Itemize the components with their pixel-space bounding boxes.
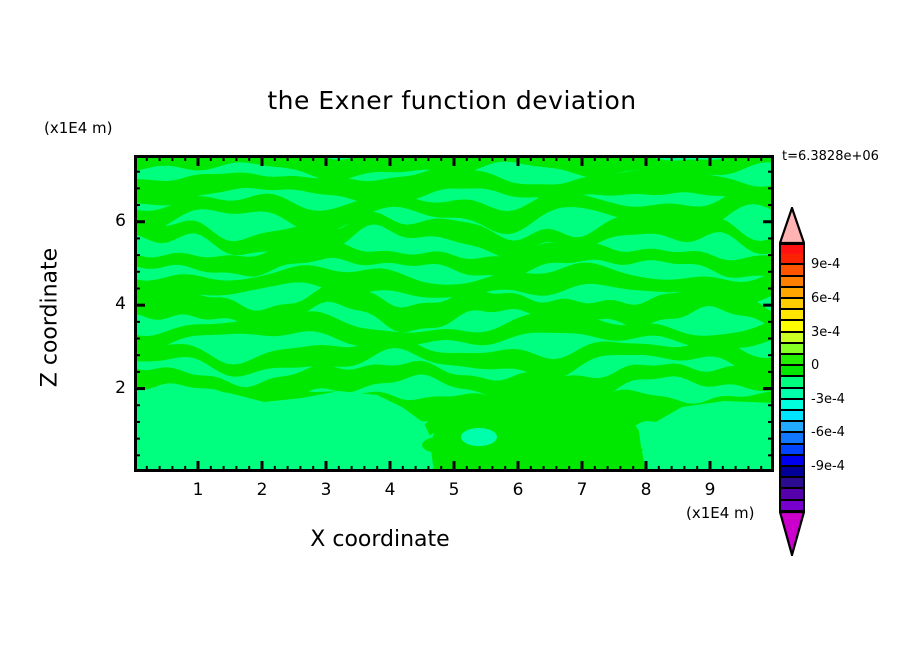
colorbar-band[interactable] — [779, 366, 805, 377]
x-tick-label: 2 — [242, 480, 282, 500]
colorbar-over-arrow — [779, 207, 805, 243]
time-annotation: t=6.3828e+06 — [782, 149, 879, 164]
page-title: the Exner function deviation — [0, 86, 904, 115]
colorbar-tick-label: -6e-4 — [811, 425, 845, 440]
colorbar-band[interactable] — [779, 400, 805, 411]
plot-area — [134, 155, 774, 472]
x-tick-label: 1 — [178, 480, 218, 500]
colorbar-band[interactable] — [779, 321, 805, 332]
y-axis-title: Z coordinate — [38, 208, 63, 428]
x-tick-label: 5 — [434, 480, 474, 500]
colorbar-band[interactable] — [779, 355, 805, 366]
colorbar-band[interactable] — [779, 478, 805, 489]
colorbar-band[interactable] — [779, 467, 805, 478]
colorbar-band[interactable] — [779, 333, 805, 344]
x-tick-label: 9 — [690, 480, 730, 500]
colorbar-band[interactable] — [779, 310, 805, 321]
x-tick-label: 4 — [370, 480, 410, 500]
y-tick-label: 6 — [86, 211, 126, 231]
colorbar-band[interactable] — [779, 389, 805, 400]
colorbar-band[interactable] — [779, 288, 805, 299]
colorbar-band[interactable] — [779, 411, 805, 422]
x-tick-label: 7 — [562, 480, 602, 500]
x-tick-label: 6 — [498, 480, 538, 500]
colorbar-band[interactable] — [779, 377, 805, 388]
colorbar-tick-label: 3e-4 — [811, 325, 840, 340]
colorbar-band[interactable] — [779, 265, 805, 276]
contour-field — [134, 155, 774, 472]
colorbar-band[interactable] — [779, 489, 805, 500]
colorbar-band[interactable] — [779, 445, 805, 456]
y-axis-unit-label: (x1E4 m) — [44, 119, 113, 137]
colorbar-band[interactable] — [779, 433, 805, 444]
colorbar-under-arrow — [779, 512, 805, 556]
contour-figure: the Exner function deviation (x1E4 m) (x… — [0, 0, 904, 654]
colorbar-band[interactable] — [779, 422, 805, 433]
colorbar-band[interactable] — [779, 299, 805, 310]
x-axis-title: X coordinate — [0, 527, 760, 552]
colorbar-tick-label: -9e-4 — [811, 459, 845, 474]
colorbar-band[interactable] — [779, 501, 805, 512]
contour-cool-blob — [461, 428, 497, 446]
x-axis-unit-label: (x1E4 m) — [686, 504, 755, 522]
colorbar-band[interactable] — [779, 254, 805, 265]
colorbar-tick-label: -3e-4 — [811, 392, 845, 407]
colorbar-band[interactable] — [779, 344, 805, 355]
y-tick-label: 2 — [86, 378, 126, 398]
contour-islet — [422, 437, 456, 453]
colorbar-tick-label: 9e-4 — [811, 257, 840, 272]
colorbar-band[interactable] — [779, 456, 805, 467]
colorbar-tick-label: 6e-4 — [811, 291, 840, 306]
colorbar-tick-label: 0 — [811, 358, 819, 373]
y-tick-label: 4 — [86, 294, 126, 314]
colorbar-band[interactable] — [779, 277, 805, 288]
x-tick-label: 8 — [626, 480, 666, 500]
x-tick-label: 3 — [306, 480, 346, 500]
